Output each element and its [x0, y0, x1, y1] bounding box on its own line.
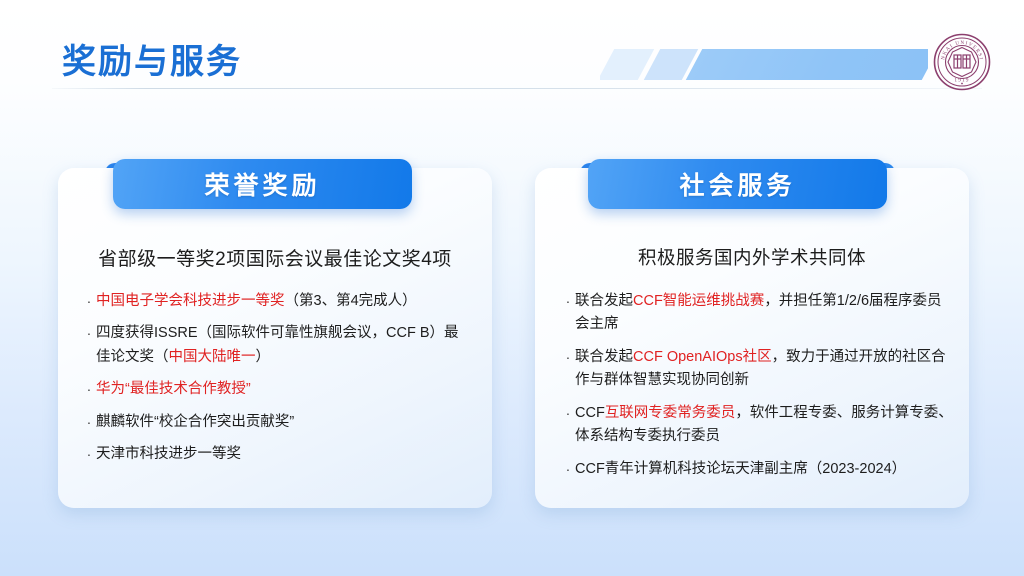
bullet-marker-icon: ·: [561, 346, 575, 393]
highlighted-text: 中国电子学会科技进步一等奖: [96, 293, 285, 309]
logo-year-text: 1919: [954, 77, 969, 83]
plain-text: 天津市科技进步一等奖: [96, 446, 241, 462]
highlighted-text: 中国大陆唯一: [169, 349, 256, 365]
bullet-list-right: ·联合发起CCF智能运维挑战赛，并担任第1/2/6届程序委员会主席·联合发起CC…: [561, 290, 953, 490]
list-item-text: CCF青年计算机科技论坛天津副主席（2023-2024）: [575, 458, 953, 481]
card-banner-honor-awards: 荣誉奖励: [113, 159, 412, 209]
highlighted-text: CCF OpenAIOps社区: [633, 349, 772, 365]
bullet-marker-icon: ·: [82, 378, 96, 401]
plain-text: （第3、第4完成人）: [285, 293, 417, 309]
bullet-marker-icon: ·: [561, 290, 575, 337]
list-item-text: CCF互联网专委常务委员，软件工程专委、服务计算专委、体系结构专委执行委员: [575, 402, 953, 449]
highlighted-text: 华为“最佳技术合作教授”: [96, 381, 251, 397]
list-item-text: 麒麟软件“校企合作突出贡献奖”: [96, 411, 472, 434]
page-title: 奖励与服务: [62, 34, 242, 83]
plain-text: 联合发起: [575, 349, 633, 365]
list-item: ·四度获得ISSRE（国际软件可靠性旗舰会议，CCF B）最佳论文奖（中国大陆唯…: [82, 322, 472, 369]
bullet-marker-icon: ·: [82, 411, 96, 434]
list-item: ·联合发起CCF智能运维挑战赛，并担任第1/2/6届程序委员会主席: [561, 290, 953, 337]
list-item-text: 联合发起CCF OpenAIOps社区，致力于通过开放的社区合作与群体智慧实现协…: [575, 346, 953, 393]
list-item-text: 华为“最佳技术合作教授”: [96, 378, 472, 401]
list-item: ·麒麟软件“校企合作突出贡献奖”: [82, 411, 472, 434]
list-item-text: 天津市科技进步一等奖: [96, 443, 472, 466]
list-item: ·华为“最佳技术合作教授”: [82, 378, 472, 401]
plain-text: 联合发起: [575, 293, 633, 309]
list-item-text: 中国电子学会科技进步一等奖（第3、第4完成人）: [96, 290, 472, 313]
plain-text: ）: [256, 349, 271, 365]
card-honor-awards: 省部级一等奖2项国际会议最佳论文奖4项 ·中国电子学会科技进步一等奖（第3、第4…: [58, 168, 492, 508]
card-social-service: 积极服务国内外学术共同体 ·联合发起CCF智能运维挑战赛，并担任第1/2/6届程…: [535, 168, 969, 508]
list-item: ·CCF互联网专委常务委员，软件工程专委、服务计算专委、体系结构专委执行委员: [561, 402, 953, 449]
bullet-marker-icon: ·: [82, 290, 96, 313]
bullet-marker-icon: ·: [561, 402, 575, 449]
decorative-stripes: [600, 49, 928, 80]
slide-root: 奖励与服务 1919 NANKAI UNIVERSITY: [0, 0, 1024, 576]
plain-text: CCF青年计算机科技论坛天津副主席（2023-2024）: [575, 461, 906, 477]
plain-text: 麒麟软件“校企合作突出贡献奖”: [96, 414, 294, 430]
plain-text: CCF: [575, 405, 605, 421]
bullet-marker-icon: ·: [82, 322, 96, 369]
list-item: ·CCF青年计算机科技论坛天津副主席（2023-2024）: [561, 458, 953, 481]
list-item: ·联合发起CCF OpenAIOps社区，致力于通过开放的社区合作与群体智慧实现…: [561, 346, 953, 393]
list-item: ·天津市科技进步一等奖: [82, 443, 472, 466]
bullet-list-left: ·中国电子学会科技进步一等奖（第3、第4完成人）·四度获得ISSRE（国际软件可…: [82, 290, 472, 476]
highlighted-text: 互联网专委常务委员: [605, 405, 736, 421]
card-heading-left: 省部级一等奖2项国际会议最佳论文奖4项: [58, 244, 492, 271]
nankai-university-seal-icon: 1919 NANKAI UNIVERSITY: [933, 33, 991, 91]
list-item-text: 四度获得ISSRE（国际软件可靠性旗舰会议，CCF B）最佳论文奖（中国大陆唯一…: [96, 322, 472, 369]
banner-label-left: 荣誉奖励: [204, 166, 320, 202]
bullet-marker-icon: ·: [82, 443, 96, 466]
plain-text: 四度获得ISSRE（国际软件可靠性旗舰会议，CCF B）最佳论文奖（: [96, 325, 459, 364]
highlighted-text: CCF智能运维挑战赛: [633, 293, 764, 309]
title-divider: [52, 88, 982, 89]
bullet-marker-icon: ·: [561, 458, 575, 481]
card-heading-right: 积极服务国内外学术共同体: [535, 244, 969, 270]
list-item: ·中国电子学会科技进步一等奖（第3、第4完成人）: [82, 290, 472, 313]
card-banner-social-service: 社会服务: [588, 159, 887, 209]
stripe-3: [686, 49, 928, 80]
list-item-text: 联合发起CCF智能运维挑战赛，并担任第1/2/6届程序委员会主席: [575, 290, 953, 337]
banner-label-right: 社会服务: [679, 166, 795, 202]
